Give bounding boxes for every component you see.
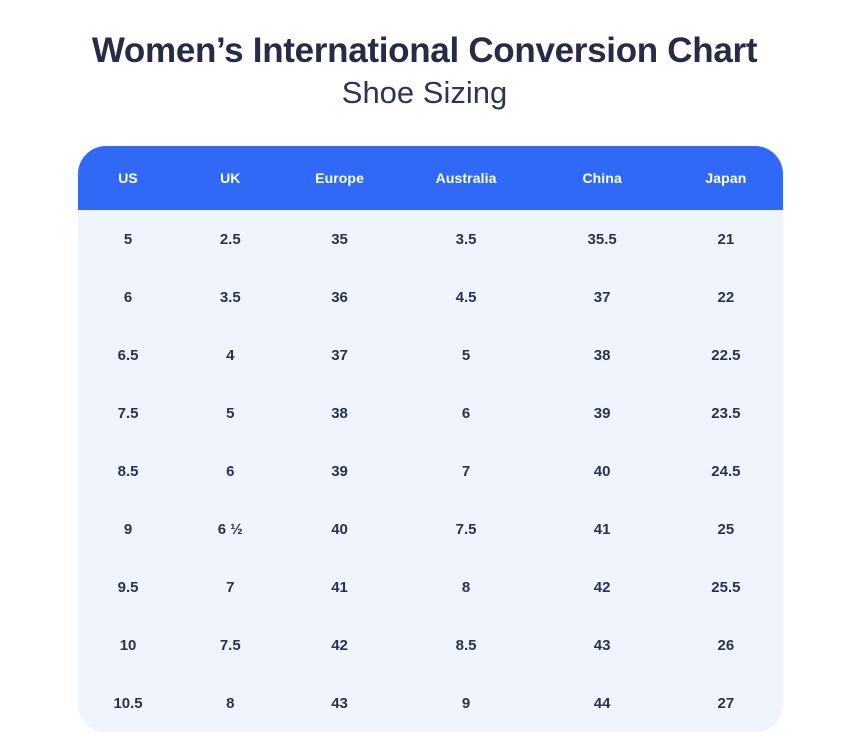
table-row: 6 3.5 36 4.5 37 22 bbox=[78, 268, 783, 326]
cell-us: 10.5 bbox=[78, 674, 178, 732]
table-row: 8.5 6 39 7 40 24.5 bbox=[78, 442, 783, 500]
cell-japan: 25 bbox=[669, 500, 783, 558]
cell-japan: 25.5 bbox=[669, 558, 783, 616]
cell-uk: 6 bbox=[178, 442, 282, 500]
cell-china: 41 bbox=[536, 500, 669, 558]
cell-japan: 21 bbox=[669, 210, 783, 268]
conversion-chart-page: Women’s International Conversion Chart S… bbox=[0, 0, 849, 734]
cell-japan: 24.5 bbox=[669, 442, 783, 500]
cell-europe: 43 bbox=[282, 674, 396, 732]
cell-australia: 3.5 bbox=[397, 210, 536, 268]
title-block: Women’s International Conversion Chart S… bbox=[0, 0, 849, 113]
column-header-australia: Australia bbox=[397, 146, 536, 210]
cell-australia: 4.5 bbox=[397, 268, 536, 326]
cell-australia: 6 bbox=[397, 384, 536, 442]
cell-europe: 35 bbox=[282, 210, 396, 268]
cell-us: 5 bbox=[78, 210, 178, 268]
cell-australia: 8.5 bbox=[397, 616, 536, 674]
table-row: 6.5 4 37 5 38 22.5 bbox=[78, 326, 783, 384]
column-header-china: China bbox=[536, 146, 669, 210]
cell-china: 39 bbox=[536, 384, 669, 442]
cell-europe: 38 bbox=[282, 384, 396, 442]
cell-us: 9 bbox=[78, 500, 178, 558]
cell-japan: 23.5 bbox=[669, 384, 783, 442]
column-header-uk: UK bbox=[178, 146, 282, 210]
cell-us: 8.5 bbox=[78, 442, 178, 500]
cell-us: 10 bbox=[78, 616, 178, 674]
cell-us: 6 bbox=[78, 268, 178, 326]
table-row: 9.5 7 41 8 42 25.5 bbox=[78, 558, 783, 616]
table-row: 5 2.5 35 3.5 35.5 21 bbox=[78, 210, 783, 268]
table-body: 5 2.5 35 3.5 35.5 21 6 3.5 36 4.5 37 22 … bbox=[78, 210, 783, 732]
cell-japan: 22 bbox=[669, 268, 783, 326]
cell-australia: 7 bbox=[397, 442, 536, 500]
cell-china: 37 bbox=[536, 268, 669, 326]
cell-china: 43 bbox=[536, 616, 669, 674]
cell-australia: 9 bbox=[397, 674, 536, 732]
table-row: 7.5 5 38 6 39 23.5 bbox=[78, 384, 783, 442]
cell-china: 38 bbox=[536, 326, 669, 384]
page-title: Women’s International Conversion Chart bbox=[0, 30, 849, 71]
cell-australia: 5 bbox=[397, 326, 536, 384]
column-header-europe: Europe bbox=[282, 146, 396, 210]
cell-europe: 41 bbox=[282, 558, 396, 616]
cell-china: 40 bbox=[536, 442, 669, 500]
column-header-us: US bbox=[78, 146, 178, 210]
cell-australia: 7.5 bbox=[397, 500, 536, 558]
cell-uk: 2.5 bbox=[178, 210, 282, 268]
cell-europe: 36 bbox=[282, 268, 396, 326]
table-header-row: US UK Europe Australia China Japan bbox=[78, 146, 783, 210]
cell-uk: 6 ½ bbox=[178, 500, 282, 558]
cell-europe: 37 bbox=[282, 326, 396, 384]
table-row: 10.5 8 43 9 44 27 bbox=[78, 674, 783, 732]
table-header: US UK Europe Australia China Japan bbox=[78, 146, 783, 210]
cell-china: 44 bbox=[536, 674, 669, 732]
cell-us: 9.5 bbox=[78, 558, 178, 616]
size-conversion-table-container: US UK Europe Australia China Japan 5 2.5… bbox=[78, 146, 783, 732]
cell-japan: 22.5 bbox=[669, 326, 783, 384]
cell-europe: 39 bbox=[282, 442, 396, 500]
cell-us: 6.5 bbox=[78, 326, 178, 384]
page-subtitle: Shoe Sizing bbox=[0, 74, 849, 113]
cell-uk: 8 bbox=[178, 674, 282, 732]
cell-us: 7.5 bbox=[78, 384, 178, 442]
cell-china: 42 bbox=[536, 558, 669, 616]
table-row: 10 7.5 42 8.5 43 26 bbox=[78, 616, 783, 674]
cell-uk: 4 bbox=[178, 326, 282, 384]
cell-uk: 7.5 bbox=[178, 616, 282, 674]
cell-europe: 42 bbox=[282, 616, 396, 674]
cell-uk: 5 bbox=[178, 384, 282, 442]
cell-china: 35.5 bbox=[536, 210, 669, 268]
cell-australia: 8 bbox=[397, 558, 536, 616]
cell-uk: 7 bbox=[178, 558, 282, 616]
cell-uk: 3.5 bbox=[178, 268, 282, 326]
cell-japan: 26 bbox=[669, 616, 783, 674]
cell-japan: 27 bbox=[669, 674, 783, 732]
column-header-japan: Japan bbox=[669, 146, 783, 210]
size-conversion-table: US UK Europe Australia China Japan 5 2.5… bbox=[78, 146, 783, 732]
cell-europe: 40 bbox=[282, 500, 396, 558]
table-row: 9 6 ½ 40 7.5 41 25 bbox=[78, 500, 783, 558]
